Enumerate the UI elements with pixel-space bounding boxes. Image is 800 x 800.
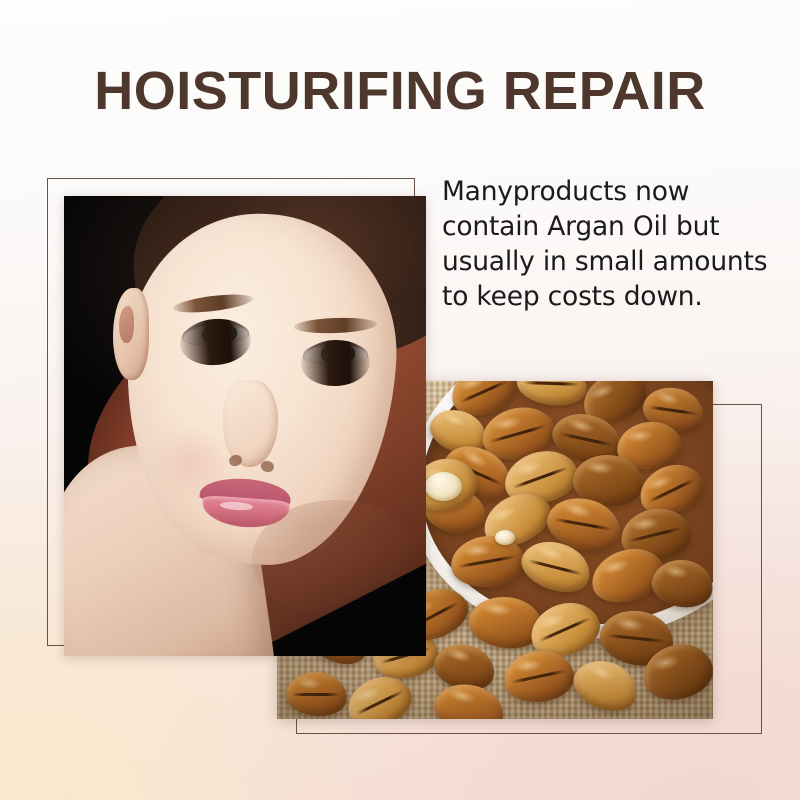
portrait-photo [64, 196, 426, 656]
poster-canvas: HOISTURIFING REPAIR Manyproducts now con… [0, 0, 800, 800]
page-title: HOISTURIFING REPAIR [0, 63, 800, 120]
portrait-backdrop [64, 196, 426, 656]
body-copy-line-3: usually in small amounts [442, 244, 762, 279]
body-copy-line-1: Manyproducts now [442, 174, 762, 209]
body-copy: Manyproducts now contain Argan Oil but u… [442, 174, 762, 314]
body-copy-line-4: to keep costs down. [442, 279, 762, 314]
jaw-shading [252, 500, 419, 620]
body-copy-line-2: contain Argan Oil but [442, 209, 762, 244]
ear-inner [119, 306, 134, 343]
